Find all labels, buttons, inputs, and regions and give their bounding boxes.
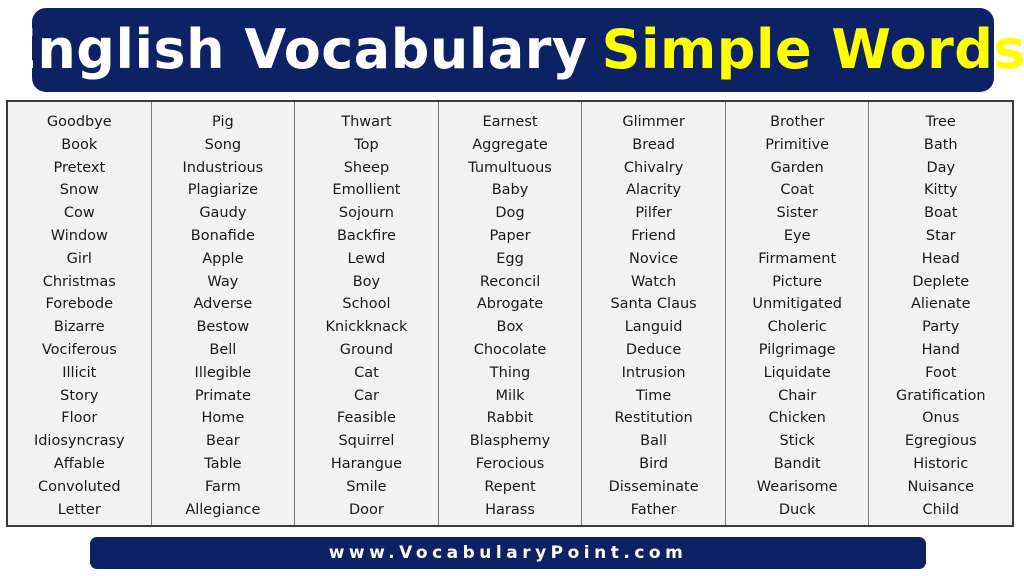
word-cell: Primate: [195, 385, 251, 408]
word-cell: Cow: [64, 202, 95, 225]
word-cell: Idiosyncrasy: [34, 430, 125, 453]
word-cell: Knickknack: [325, 316, 407, 339]
word-cell: Pig: [212, 111, 234, 134]
word-cell: Christmas: [43, 271, 116, 294]
word-cell: Chocolate: [474, 339, 547, 362]
word-cell: Eye: [784, 225, 811, 248]
word-cell: Industrious: [183, 157, 264, 180]
word-cell: Head: [922, 248, 960, 271]
word-cell: Father: [631, 499, 677, 522]
word-cell: Friend: [631, 225, 676, 248]
word-cell: Bell: [209, 339, 236, 362]
word-cell: Day: [926, 157, 955, 180]
word-cell: Gaudy: [199, 202, 246, 225]
word-cell: Deduce: [626, 339, 681, 362]
word-cell: Sojourn: [339, 202, 394, 225]
word-cell: Novice: [629, 248, 678, 271]
word-cell: Bread: [632, 134, 675, 157]
word-cell: Squirrel: [338, 430, 394, 453]
word-cell: Pretext: [53, 157, 105, 180]
word-cell: Wearisome: [757, 476, 838, 499]
word-cell: Bandit: [774, 453, 821, 476]
word-cell: Firmament: [758, 248, 836, 271]
word-cell: Pilfer: [635, 202, 671, 225]
word-column-5: GlimmerBreadChivalryAlacrityPilferFriend…: [582, 102, 726, 525]
word-cell: Box: [497, 316, 524, 339]
word-cell: Floor: [61, 407, 97, 430]
word-cell: Gratification: [896, 385, 986, 408]
word-cell: Historic: [913, 453, 968, 476]
word-cell: Alacrity: [626, 179, 681, 202]
word-cell: Cat: [354, 362, 379, 385]
word-cell: Snow: [60, 179, 99, 202]
word-cell: Child: [922, 499, 959, 522]
word-cell: Affable: [54, 453, 105, 476]
word-cell: Restitution: [614, 407, 692, 430]
word-cell: Apple: [202, 248, 243, 271]
word-cell: Stick: [780, 430, 815, 453]
word-column-1: GoodbyeBookPretextSnowCowWindowGirlChris…: [8, 102, 152, 525]
word-cell: Picture: [772, 271, 822, 294]
word-cell: Nuisance: [907, 476, 974, 499]
word-cell: Deplete: [912, 271, 969, 294]
word-cell: Illicit: [62, 362, 96, 385]
word-cell: Abrogate: [477, 293, 543, 316]
word-cell: Primitive: [765, 134, 829, 157]
page-title-primary: English Vocabulary: [0, 23, 588, 77]
word-cell: Ball: [640, 430, 667, 453]
page-title: English VocabularySimple Words: [0, 23, 1024, 77]
word-cell: Liquidate: [764, 362, 831, 385]
word-cell: Thwart: [341, 111, 391, 134]
header-banner: English VocabularySimple Words: [32, 8, 994, 92]
word-cell: Bizarre: [54, 316, 105, 339]
word-cell: Story: [60, 385, 98, 408]
word-cell: Lewd: [348, 248, 386, 271]
word-cell: Brother: [770, 111, 824, 134]
word-cell: School: [342, 293, 390, 316]
word-cell: Book: [61, 134, 97, 157]
word-cell: Pilgrimage: [759, 339, 836, 362]
word-cell: Kitty: [924, 179, 958, 202]
word-cell: Bird: [639, 453, 668, 476]
word-cell: Baby: [492, 179, 529, 202]
word-cell: Girl: [67, 248, 92, 271]
word-cell: Plagiarize: [188, 179, 258, 202]
word-column-7: TreeBathDayKittyBoatStarHeadDepleteAlien…: [869, 102, 1012, 525]
word-cell: Top: [354, 134, 378, 157]
word-cell: Garden: [771, 157, 824, 180]
word-column-2: PigSongIndustriousPlagiarizeGaudyBonafid…: [152, 102, 296, 525]
word-cell: Forebode: [46, 293, 113, 316]
word-cell: Boy: [353, 271, 380, 294]
word-cell: Tree: [926, 111, 956, 134]
page-title-accent: Simple Words: [602, 23, 1024, 77]
word-cell: Choleric: [768, 316, 827, 339]
word-cell: Way: [207, 271, 238, 294]
word-cell: Egregious: [905, 430, 977, 453]
word-cell: Milk: [496, 385, 525, 408]
word-cell: Santa Claus: [610, 293, 696, 316]
website-url[interactable]: www.VocabularyPoint.com: [329, 543, 688, 563]
vocabulary-word-table: GoodbyeBookPretextSnowCowWindowGirlChris…: [6, 100, 1014, 527]
word-cell: Blasphemy: [470, 430, 550, 453]
word-cell: Watch: [631, 271, 676, 294]
word-column-3: ThwartTopSheepEmollientSojournBackfireLe…: [295, 102, 439, 525]
word-cell: Car: [354, 385, 379, 408]
word-cell: Adverse: [193, 293, 252, 316]
word-cell: Duck: [779, 499, 816, 522]
word-cell: Boat: [924, 202, 957, 225]
word-cell: Bonafide: [191, 225, 255, 248]
word-cell: Table: [204, 453, 242, 476]
word-column-6: BrotherPrimitiveGardenCoatSisterEyeFirma…: [726, 102, 870, 525]
word-cell: Feasible: [337, 407, 396, 430]
word-cell: Goodbye: [47, 111, 112, 134]
word-cell: Letter: [58, 499, 101, 522]
word-cell: Glimmer: [622, 111, 684, 134]
word-cell: Harass: [485, 499, 535, 522]
word-column-4: EarnestAggregateTumultuousBabyDogPaperEg…: [439, 102, 583, 525]
word-cell: Rabbit: [487, 407, 534, 430]
word-cell: Bestow: [196, 316, 249, 339]
word-cell: Reconcil: [480, 271, 540, 294]
word-cell: Allegiance: [185, 499, 260, 522]
word-cell: Paper: [489, 225, 530, 248]
word-cell: Aggregate: [472, 134, 548, 157]
word-cell: Coat: [780, 179, 814, 202]
word-cell: Repent: [484, 476, 535, 499]
word-cell: Alienate: [911, 293, 971, 316]
word-cell: Convoluted: [38, 476, 121, 499]
word-cell: Intrusion: [622, 362, 686, 385]
word-cell: Backfire: [337, 225, 396, 248]
footer-bar: www.VocabularyPoint.com: [90, 537, 926, 569]
word-cell: Foot: [925, 362, 956, 385]
word-cell: Dog: [495, 202, 524, 225]
word-cell: Illegible: [195, 362, 252, 385]
word-cell: Thing: [490, 362, 530, 385]
word-cell: Tumultuous: [468, 157, 552, 180]
word-cell: Smile: [346, 476, 386, 499]
word-cell: Door: [349, 499, 384, 522]
word-cell: Onus: [922, 407, 959, 430]
word-cell: Ground: [340, 339, 393, 362]
word-cell: Egg: [496, 248, 524, 271]
word-cell: Harangue: [331, 453, 402, 476]
word-cell: Star: [926, 225, 956, 248]
word-cell: Sheep: [344, 157, 389, 180]
word-cell: Disseminate: [609, 476, 699, 499]
word-cell: Bath: [924, 134, 958, 157]
word-cell: Song: [205, 134, 241, 157]
word-cell: Ferocious: [476, 453, 545, 476]
word-cell: Unmitigated: [752, 293, 842, 316]
word-cell: Home: [201, 407, 244, 430]
word-cell: Vociferous: [42, 339, 117, 362]
word-cell: Bear: [206, 430, 240, 453]
word-cell: Sister: [777, 202, 818, 225]
word-cell: Chicken: [769, 407, 826, 430]
word-cell: Hand: [922, 339, 960, 362]
word-cell: Languid: [625, 316, 683, 339]
word-cell: Time: [636, 385, 672, 408]
word-cell: Emollient: [332, 179, 400, 202]
word-cell: Party: [922, 316, 959, 339]
word-cell: Window: [51, 225, 108, 248]
word-cell: Earnest: [482, 111, 537, 134]
word-cell: Chivalry: [624, 157, 683, 180]
word-cell: Farm: [205, 476, 241, 499]
word-cell: Chair: [778, 385, 816, 408]
